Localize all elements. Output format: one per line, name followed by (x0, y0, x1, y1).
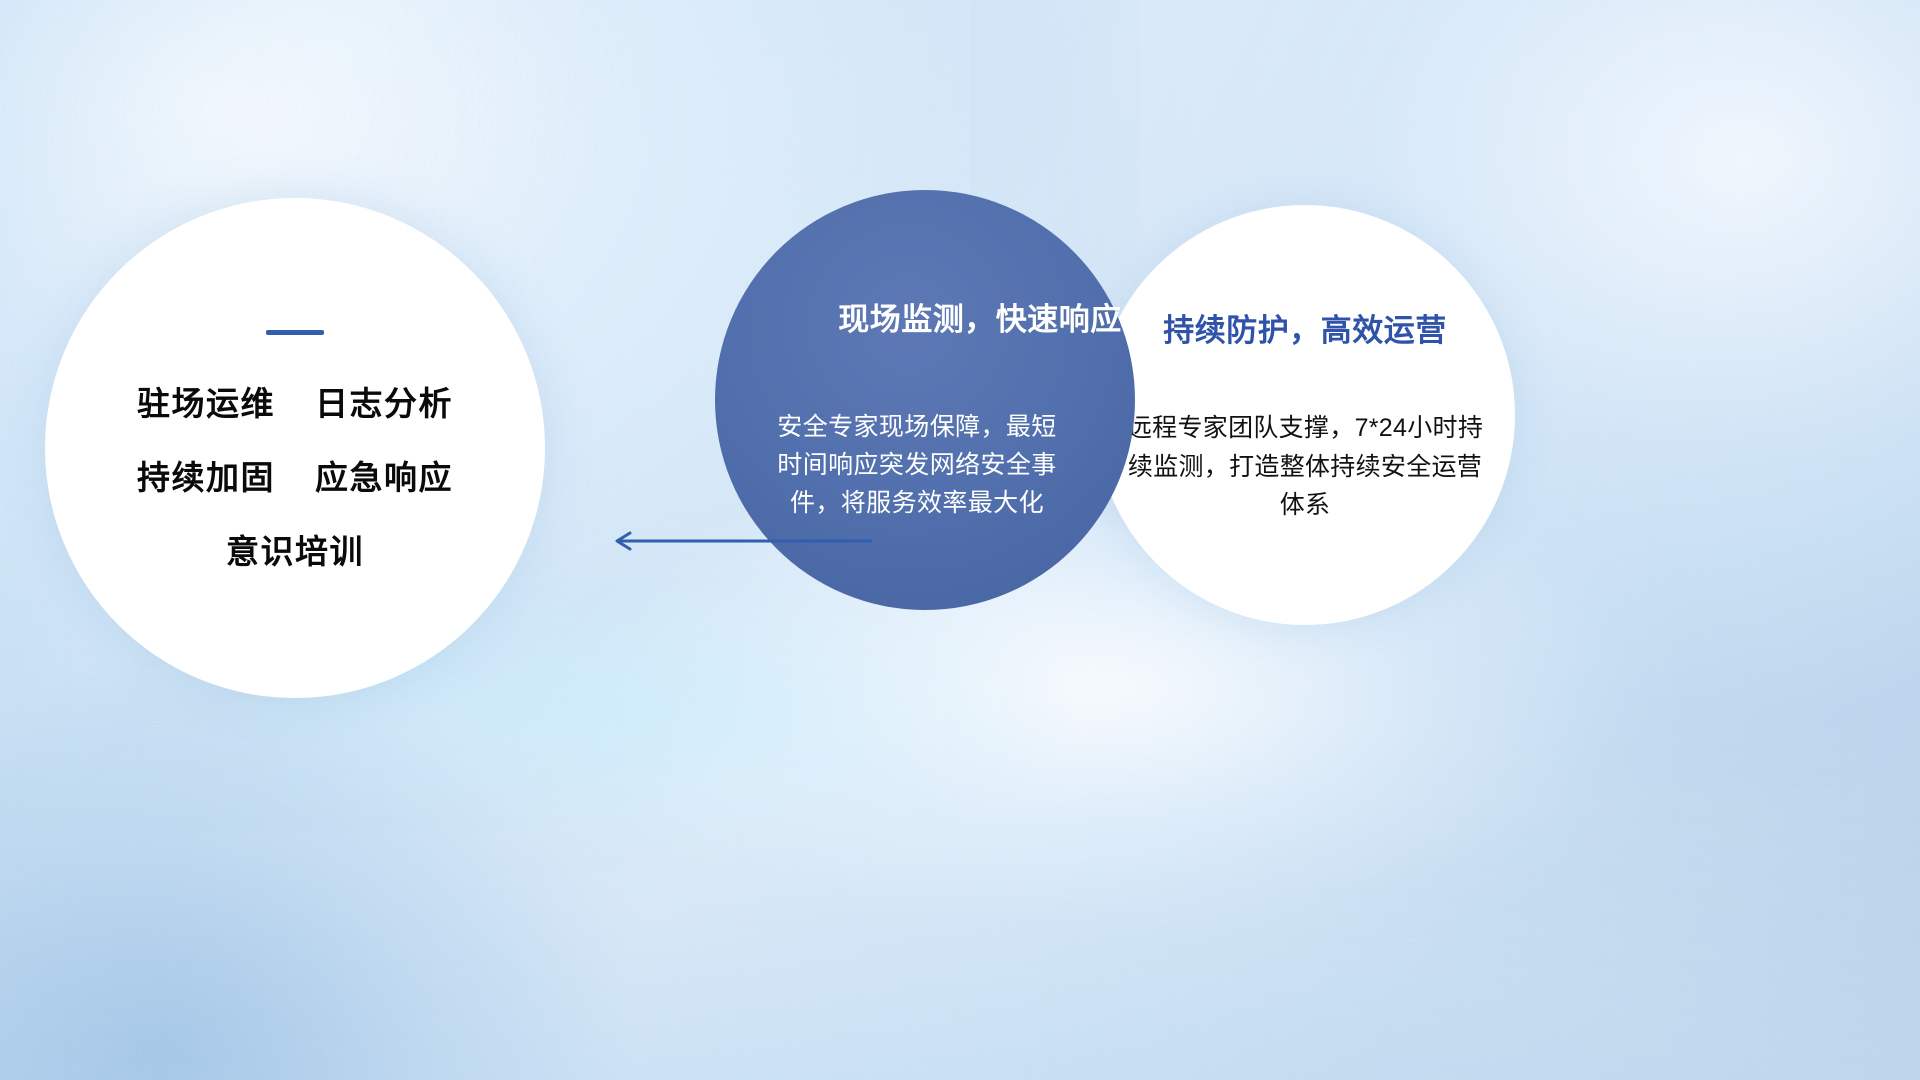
keyword-item: 意识培训 (226, 525, 364, 573)
keyword-item: 日志分析 (315, 377, 453, 425)
keyword-item: 驻场运维 (137, 377, 275, 425)
keyword-row: 意识培训 (79, 525, 511, 573)
right-protection-circle[interactable]: 持续防护，高效运营 远程专家团队支撑，7*24小时持续监测，打造整体持续安全运营… (1095, 205, 1515, 625)
flow-arrow-left-icon (600, 528, 875, 554)
middle-circle-title: 现场监测，快速响应 (770, 294, 1190, 339)
middle-circle-body: 安全专家现场保障，最短时间响应突发网络安全事件，将服务效率最大化 (767, 408, 1067, 522)
left-keywords-circle[interactable]: 驻场运维 日志分析 持续加固 应急响应 意识培训 (45, 198, 545, 698)
keyword-item: 持续加固 (137, 451, 275, 499)
keyword-item: 应急响应 (315, 451, 453, 499)
keyword-row: 持续加固 应急响应 (79, 451, 511, 499)
right-circle-body: 远程专家团队支撑，7*24小时持续监测，打造整体持续安全运营体系 (1119, 409, 1491, 525)
keyword-row: 驻场运维 日志分析 (79, 377, 511, 425)
diagram-canvas: 驻场运维 日志分析 持续加固 应急响应 意识培训 持续防护，高效运营 远程专家团… (0, 0, 1920, 1080)
horizontal-dash-icon (266, 330, 324, 335)
left-circle-content: 驻场运维 日志分析 持续加固 应急响应 意识培训 (45, 330, 545, 599)
